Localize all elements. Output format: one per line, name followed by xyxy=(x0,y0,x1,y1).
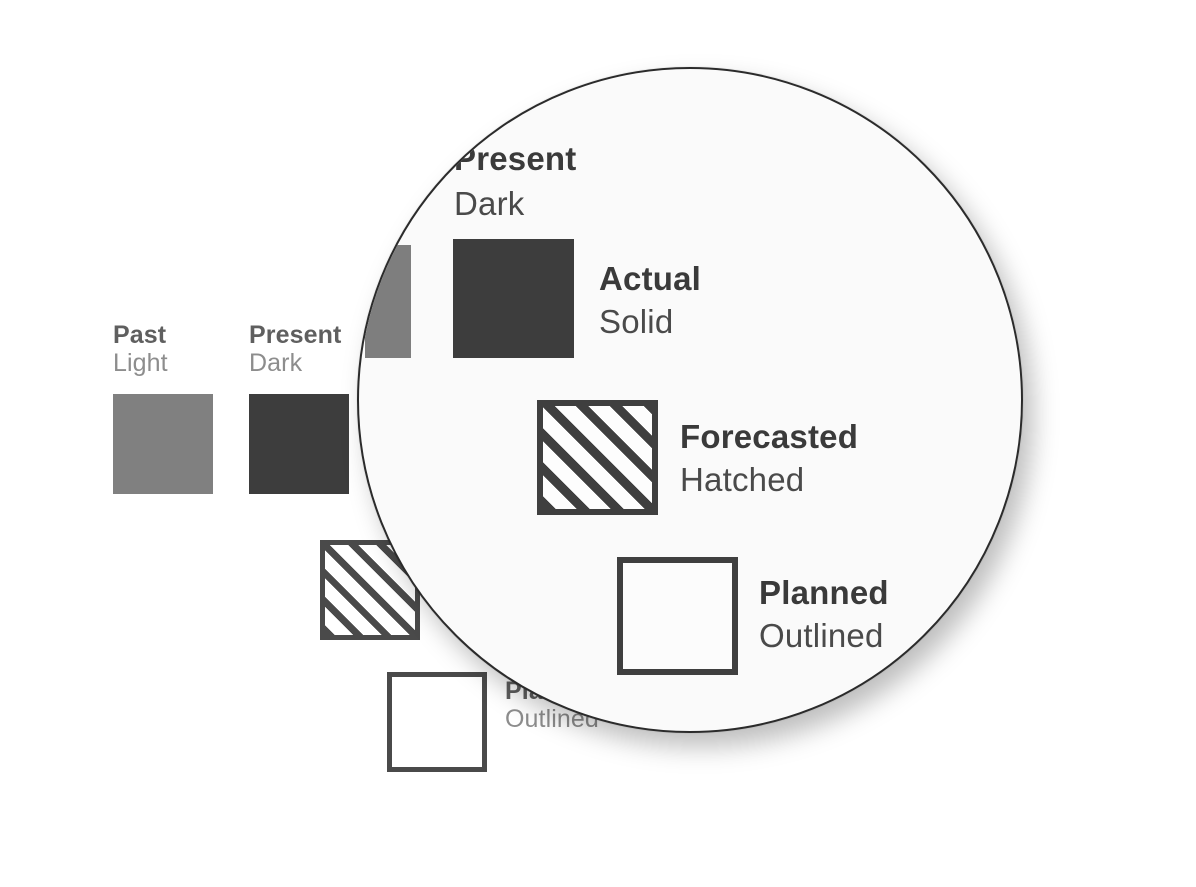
legend-entry-present: Present Dark xyxy=(249,322,349,494)
legend-figure: Past Light Present Dark Forecasted Hatch… xyxy=(0,0,1196,887)
legend-entry-present-title: Present xyxy=(249,322,349,349)
magnified-swatch-past-light xyxy=(365,245,411,358)
magnified-swatch-forecasted-hatched xyxy=(537,400,658,515)
magnified-entry-actual-subtitle: Solid xyxy=(599,305,673,340)
magnified-entry-planned-subtitle: Outlined xyxy=(759,619,884,654)
magnified-swatch-actual-solid xyxy=(453,239,574,358)
legend-entry-present-subtitle: Dark xyxy=(249,349,349,377)
magnified-entry-planned-title: Planned xyxy=(759,576,889,611)
magnified-entry-actual-title: Actual xyxy=(599,262,701,297)
magnifier-lens[interactable]: Present Dark Actual Solid Forecasted Hat… xyxy=(357,67,1023,733)
legend-entry-past-subtitle: Light xyxy=(113,349,213,377)
magnified-entry-present-subtitle: Dark xyxy=(454,187,524,222)
magnified-swatch-planned-outlined xyxy=(617,557,738,675)
legend-entry-past-title: Past xyxy=(113,322,213,349)
legend-swatch-past-light xyxy=(113,394,213,494)
magnifier-content: Present Dark Actual Solid Forecasted Hat… xyxy=(357,67,1023,733)
legend-entry-past: Past Light xyxy=(113,322,213,494)
legend-swatch-present-dark xyxy=(249,394,349,494)
magnified-entry-forecasted-title: Forecasted xyxy=(680,420,858,455)
magnified-entry-forecasted-subtitle: Hatched xyxy=(680,463,804,498)
magnified-entry-present-title: Present xyxy=(454,142,576,177)
